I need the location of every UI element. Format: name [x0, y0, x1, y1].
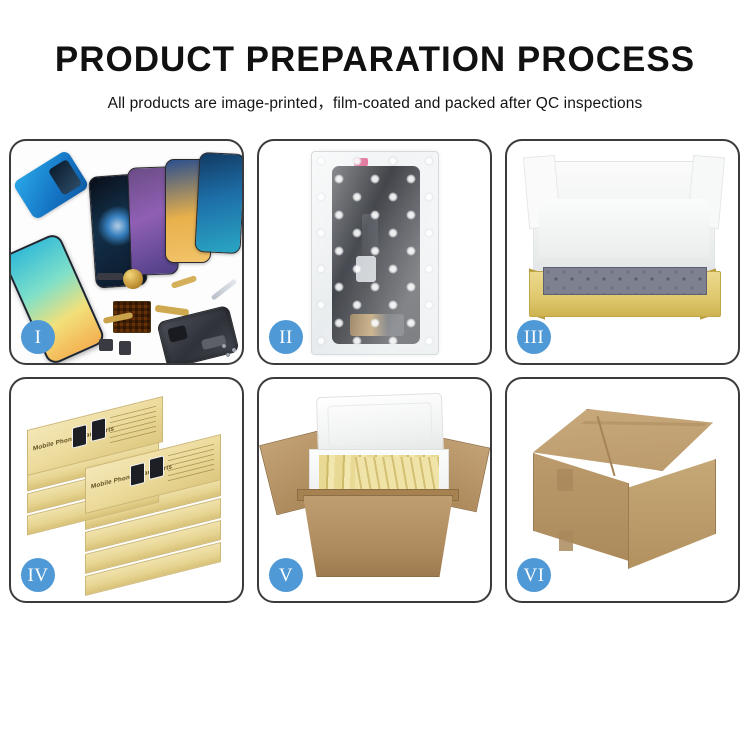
- box-spec-lines-front: [168, 444, 214, 483]
- flex-cable-icon-3: [171, 275, 198, 289]
- carton-body: [303, 495, 453, 577]
- process-row-1: I II: [9, 139, 741, 365]
- antistatic-padding-icon: [543, 267, 707, 295]
- carton-side-face: [628, 459, 716, 569]
- page-title: PRODUCT PREPARATION PROCESS: [0, 42, 750, 77]
- step-badge-5: V: [269, 558, 303, 592]
- panel-step-5[interactable]: V: [257, 377, 492, 603]
- page-subtitle: All products are image-printed，film-coat…: [0, 91, 750, 113]
- panel-step-6[interactable]: VI: [505, 377, 740, 603]
- carton-tape-patch-2: [559, 531, 573, 551]
- small-part-icon-2: [119, 341, 131, 355]
- carton-tape-patch-1: [557, 469, 573, 491]
- process-row-2: Mobile Phone Spare Parts Mobile Phone Sp…: [9, 377, 741, 603]
- panel-step-4[interactable]: Mobile Phone Spare Parts Mobile Phone Sp…: [9, 377, 244, 603]
- carton-front-face: [533, 453, 629, 561]
- step-badge-4: IV: [21, 558, 55, 592]
- box-phone-image-2: [149, 455, 164, 480]
- blue-phone-back-icon: [12, 149, 90, 220]
- box-spec-lines-top: [110, 406, 156, 445]
- box-phone-image-3: [72, 424, 87, 449]
- step-badge-3: III: [517, 320, 551, 354]
- bag-sheen: [312, 152, 438, 354]
- small-part-icon-1: [99, 339, 113, 351]
- chip-icon: [97, 273, 123, 280]
- phone-screen-fan: [89, 153, 239, 278]
- panel-step-3[interactable]: III: [505, 139, 740, 365]
- phone-screen-teal-icon: [194, 152, 242, 254]
- spare-parts-cluster: [97, 267, 242, 363]
- panel-step-1[interactable]: I: [9, 139, 244, 365]
- foam-sheet-icon: [539, 199, 709, 257]
- box-phone-image-1: [130, 462, 145, 487]
- gold-coil-icon: [123, 269, 143, 289]
- tweezers-icon: [211, 278, 238, 300]
- box-stack: Mobile Phone Spare Parts Mobile Phone Sp…: [21, 407, 237, 593]
- step-badge-1: I: [21, 320, 55, 354]
- process-grid: I II: [9, 139, 741, 615]
- bubble-bag: [311, 151, 439, 355]
- header: PRODUCT PREPARATION PROCESS All products…: [0, 0, 750, 113]
- box-phone-image-4: [91, 417, 106, 442]
- panel-step-2[interactable]: II: [257, 139, 492, 365]
- step-badge-2: II: [269, 320, 303, 354]
- page-root: PRODUCT PREPARATION PROCESS All products…: [0, 0, 750, 750]
- screws-icon: [221, 343, 242, 359]
- step-badge-6: VI: [517, 558, 551, 592]
